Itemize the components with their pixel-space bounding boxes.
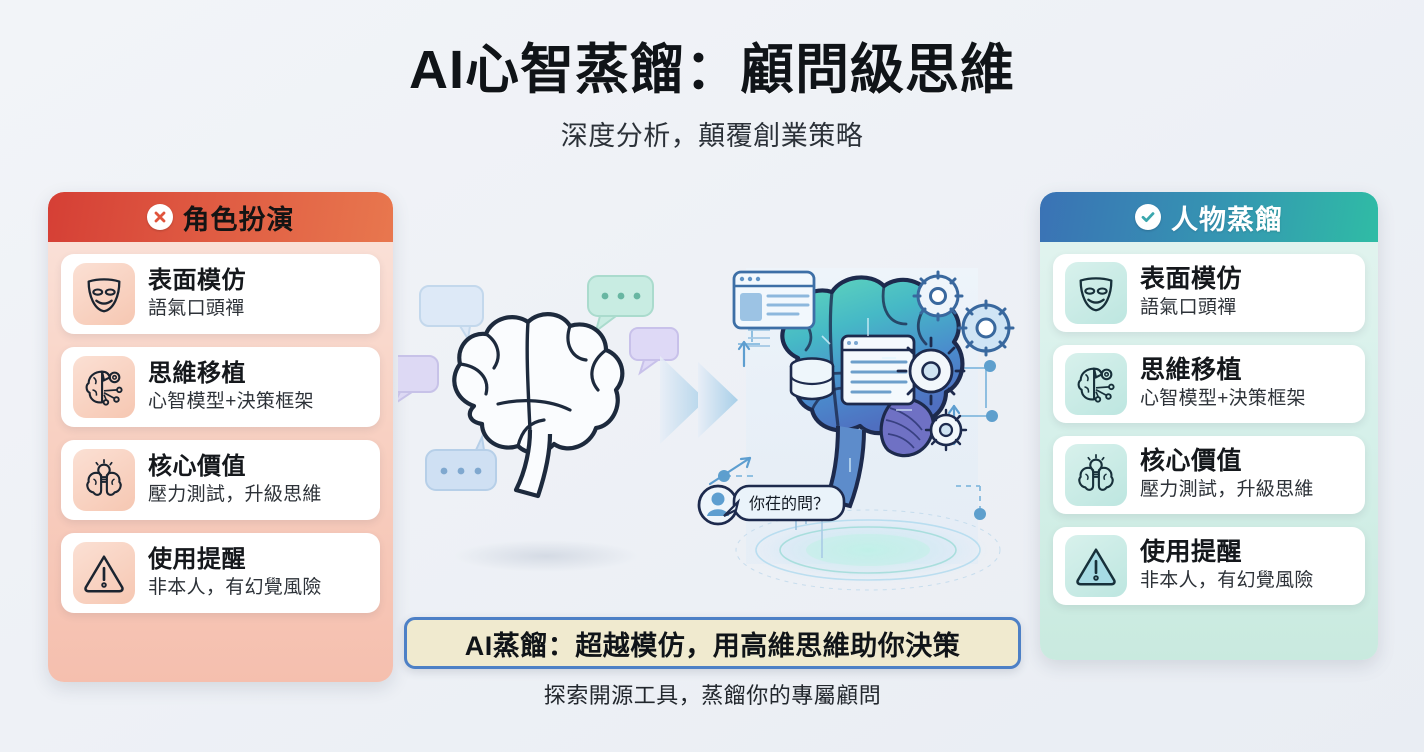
brain-lightbulb-icon xyxy=(73,449,135,511)
warning-triangle-icon xyxy=(1065,535,1127,597)
list-item[interactable]: 表面模仿 語氣口頭禪 xyxy=(1053,254,1365,332)
list-item-subtitle: 壓力測試，升級思維 xyxy=(148,483,322,508)
panel-persona-distill-items: 表面模仿 語氣口頭禪 思維移植 心智模型 xyxy=(1040,242,1378,619)
bubble-text: 你茌的問？ xyxy=(749,495,829,513)
user-query-bubble: 你茌的問？ xyxy=(699,486,844,524)
panel-persona-distill-header: 人物蒸餾 xyxy=(1040,192,1378,242)
close-circle-icon xyxy=(147,204,173,230)
list-item-title: 使用提醒 xyxy=(1140,538,1242,566)
list-item[interactable]: 思維移植 心智模型+決策框架 xyxy=(61,347,380,427)
list-item[interactable]: 表面模仿 語氣口頭禪 xyxy=(61,254,380,334)
brain-gear-network-icon xyxy=(73,356,135,418)
list-item-subtitle: 心智模型+決策框架 xyxy=(148,390,314,415)
check-circle-icon xyxy=(1135,204,1161,230)
list-item-title: 表面模仿 xyxy=(148,267,246,294)
gear-icon-float-b xyxy=(959,301,1013,355)
warning-triangle-icon xyxy=(73,542,135,604)
brain-lightbulb-icon xyxy=(1065,444,1127,506)
page-subtitle: 深度分析，顛覆創業策略 xyxy=(0,114,1424,153)
key-message-text: AI蒸餾：超越模仿，用高維思維助你決策 xyxy=(465,624,961,663)
list-item-title: 使用提醒 xyxy=(148,546,246,573)
gear-icon-float-a xyxy=(914,272,962,320)
list-item[interactable]: 思維移植 心智模型+決策框架 xyxy=(1053,345,1365,423)
list-item-title: 思維移植 xyxy=(148,360,246,387)
list-item[interactable]: 核心價值 壓力測試，升級思維 xyxy=(61,440,380,520)
panel-roleplay-header: 角色扮演 xyxy=(48,192,393,242)
footer-caption: 探索開源工具，蒸餾你的專屬顧問 xyxy=(404,678,1021,710)
list-item-subtitle: 非本人，有幻覺風險 xyxy=(1140,569,1314,594)
list-item-subtitle: 語氣口頭禪 xyxy=(148,297,246,322)
list-item-title: 核心價值 xyxy=(148,453,246,480)
list-item-subtitle: 壓力測試，升級思維 xyxy=(1140,478,1314,503)
panel-roleplay-title: 角色扮演 xyxy=(183,198,295,237)
list-item-subtitle: 語氣口頭禪 xyxy=(1140,296,1242,321)
window-panel-icon xyxy=(734,272,814,328)
theater-mask-icon xyxy=(73,263,135,325)
page-header: AI心智蒸餾：顧問級思維 深度分析，顛覆創業策略 xyxy=(0,40,1424,153)
panel-persona-distill-title: 人物蒸餾 xyxy=(1171,198,1283,237)
panel-roleplay: 角色扮演 表面模仿 語氣口頭禪 xyxy=(48,192,393,682)
list-item[interactable]: 使用提醒 非本人，有幻覺風險 xyxy=(1053,527,1365,605)
database-icon xyxy=(791,359,833,400)
panel-persona-distill: 人物蒸餾 表面模仿 語氣口頭禪 xyxy=(1040,192,1378,660)
double-chevron-arrow-icon xyxy=(660,356,738,444)
list-item-title: 思維移植 xyxy=(1140,356,1242,384)
list-item[interactable]: 使用提醒 非本人，有幻覺風險 xyxy=(61,533,380,613)
panel-roleplay-items: 表面模仿 語氣口頭禪 思維移植 心智模型 xyxy=(48,242,393,627)
list-item[interactable]: 核心價值 壓力測試，升級思維 xyxy=(1053,436,1365,514)
theater-mask-icon xyxy=(1065,262,1127,324)
list-item-title: 核心價值 xyxy=(1140,447,1242,475)
list-item-subtitle: 心智模型+決策框架 xyxy=(1140,387,1306,412)
page-title: AI心智蒸餾：顧問級思維 xyxy=(0,40,1424,100)
list-item-title: 表面模仿 xyxy=(1140,265,1242,293)
list-item-subtitle: 非本人，有幻覺風險 xyxy=(148,576,322,601)
transformation-illustration: 你茌的問？ xyxy=(398,258,1038,608)
brain-gear-network-icon xyxy=(1065,353,1127,415)
key-message-banner: AI蒸餾：超越模仿，用高維思維助你決策 xyxy=(404,617,1021,669)
gear-icon-small xyxy=(926,410,966,450)
